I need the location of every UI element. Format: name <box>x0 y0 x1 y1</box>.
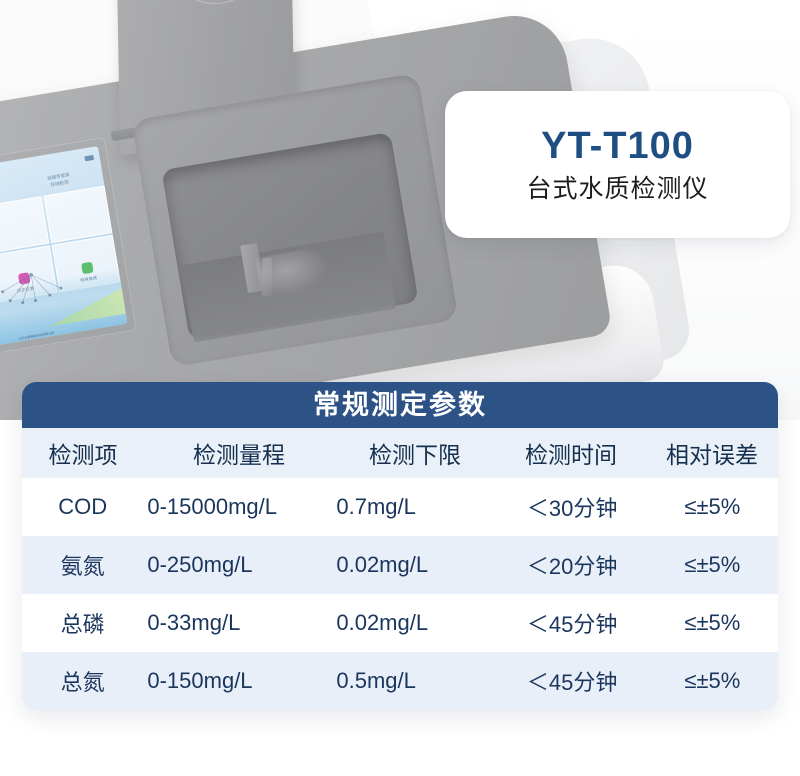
column-header-error: 相对误差 <box>646 436 778 470</box>
cell-time: ＜20分钟 <box>498 549 647 581</box>
column-header-item: 检测项 <box>22 436 144 470</box>
cell-range: 0-33mg/L <box>143 610 336 636</box>
cell-limit: 0.5mg/L <box>336 668 497 694</box>
column-header-limit: 检测下限 <box>334 436 496 470</box>
cell-range: 0-15000mg/L <box>143 494 336 520</box>
cell-error: ≤±5% <box>647 552 778 578</box>
cell-limit: 0.7mg/L <box>336 494 497 520</box>
table-row: 总磷 0-33mg/L 0.02mg/L ＜45分钟 ≤±5% <box>22 594 778 652</box>
cell-range: 0-250mg/L <box>143 552 336 578</box>
screen-tile-spacer <box>43 186 112 244</box>
cell-time: ＜30分钟 <box>498 491 647 523</box>
spec-table-title: 常规测定参数 <box>22 382 778 428</box>
cell-error: ≤±5% <box>647 494 778 520</box>
column-header-time: 检测时间 <box>496 436 646 470</box>
cell-item: COD <box>22 494 143 520</box>
screen-header: 远程专家库 在线检测 <box>28 168 89 192</box>
cell-error: ≤±5% <box>647 610 778 636</box>
column-header-range: 检测量程 <box>144 436 334 470</box>
cell-range: 0-150mg/L <box>143 668 336 694</box>
cell-item: 总磷 <box>22 607 143 639</box>
cell-time: ＜45分钟 <box>498 607 647 639</box>
cell-error: ≤±5% <box>647 668 778 694</box>
cell-item: 氨氮 <box>22 549 143 581</box>
table-header-row: 检测项 检测量程 检测下限 检测时间 相对误差 <box>22 428 778 478</box>
wifi-icon <box>84 154 94 160</box>
table-row: 总氮 0-150mg/L 0.5mg/L ＜45分钟 ≤±5% <box>22 652 778 710</box>
product-model: YT-T100 <box>541 127 694 165</box>
table-row: COD 0-15000mg/L 0.7mg/L ＜30分钟 ≤±5% <box>22 478 778 536</box>
spec-table-card: 常规测定参数 检测项 检测量程 检测下限 检测时间 相对误差 COD 0-150… <box>22 382 778 710</box>
product-name-card: YT-T100 台式水质检测仪 <box>445 91 790 238</box>
table-row: 氨氮 0-250mg/L 0.02mg/L ＜20分钟 ≤±5% <box>22 536 778 594</box>
cell-limit: 0.02mg/L <box>336 552 497 578</box>
cell-time: ＜45分钟 <box>498 665 647 697</box>
cell-limit: 0.02mg/L <box>336 610 497 636</box>
product-subtitle: 台式水质检测仪 <box>526 177 708 202</box>
cell-item: 总氮 <box>22 665 143 697</box>
